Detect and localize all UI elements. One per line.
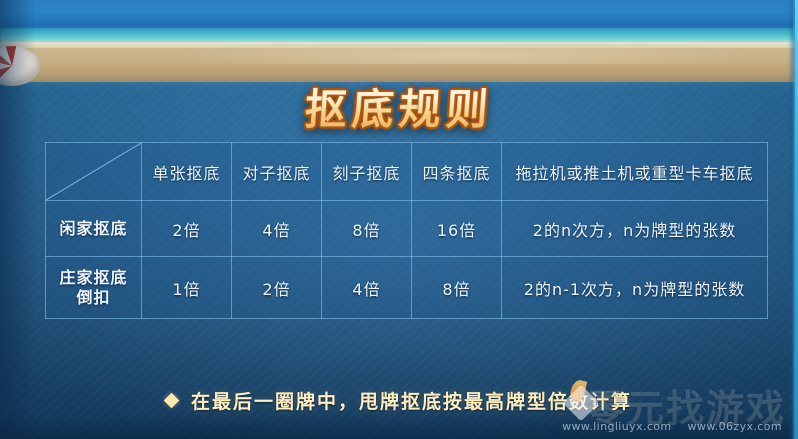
- beach-sand-highlight: [0, 44, 798, 64]
- cell-player-triplet: 8倍: [322, 201, 412, 257]
- row-header-banker-line2: 倒扣: [46, 288, 141, 308]
- cell-banker-pair: 2倍: [232, 257, 322, 319]
- cell-banker-single: 1倍: [142, 257, 232, 319]
- column-header-four: 四条抠底: [412, 143, 502, 201]
- table-header-row: 单张抠底 对子抠底 刻子抠底 四条抠底 拖拉机或推土机或重型卡车抠底: [46, 143, 768, 201]
- page-title: 抠底规则: [0, 76, 798, 137]
- column-header-pair: 对子抠底: [232, 143, 322, 201]
- cell-player-four: 16倍: [412, 201, 502, 257]
- cell-player-single: 2倍: [142, 201, 232, 257]
- diamond-bullet-icon: [164, 393, 180, 409]
- table-row: 庄家抠底 倒扣 1倍 2倍 4倍 8倍 2的n-1次方，n为牌型的张数: [46, 257, 768, 319]
- footer-note: 在最后一圈牌中，甩牌抠底按最高牌型倍数计算: [0, 387, 798, 414]
- rules-screen: 抠底规则 单张抠底 对子抠底 刻子抠底 四条抠底 拖拉机或推土机或重型卡车抠底 …: [0, 0, 798, 439]
- column-header-triplet: 刻子抠底: [322, 143, 412, 201]
- rules-table-wrapper: 单张抠底 对子抠底 刻子抠底 四条抠底 拖拉机或推土机或重型卡车抠底 闲家抠底 …: [45, 142, 761, 319]
- row-header-banker: 庄家抠底 倒扣: [46, 257, 142, 319]
- cell-banker-four: 8倍: [412, 257, 502, 319]
- table-row: 闲家抠底 2倍 4倍 8倍 16倍 2的n次方，n为牌型的张数: [46, 201, 768, 257]
- table-corner-cell: [46, 143, 142, 201]
- cell-player-tractor: 2的n次方，n为牌型的张数: [502, 201, 768, 257]
- row-header-banker-line1: 庄家抠底: [46, 268, 141, 288]
- rules-table: 单张抠底 对子抠底 刻子抠底 四条抠底 拖拉机或推土机或重型卡车抠底 闲家抠底 …: [45, 142, 768, 319]
- footer-note-text: 在最后一圈牌中，甩牌抠底按最高牌型倍数计算: [191, 387, 632, 414]
- cell-player-pair: 4倍: [232, 201, 322, 257]
- column-header-single: 单张抠底: [142, 143, 232, 201]
- cell-banker-triplet: 4倍: [322, 257, 412, 319]
- column-header-tractor: 拖拉机或推土机或重型卡车抠底: [502, 143, 768, 201]
- diagonal-divider-icon: [46, 143, 141, 200]
- edge-shadow-bottom: [0, 413, 798, 439]
- row-header-player: 闲家抠底: [46, 201, 142, 257]
- cell-banker-tractor: 2的n-1次方，n为牌型的张数: [502, 257, 768, 319]
